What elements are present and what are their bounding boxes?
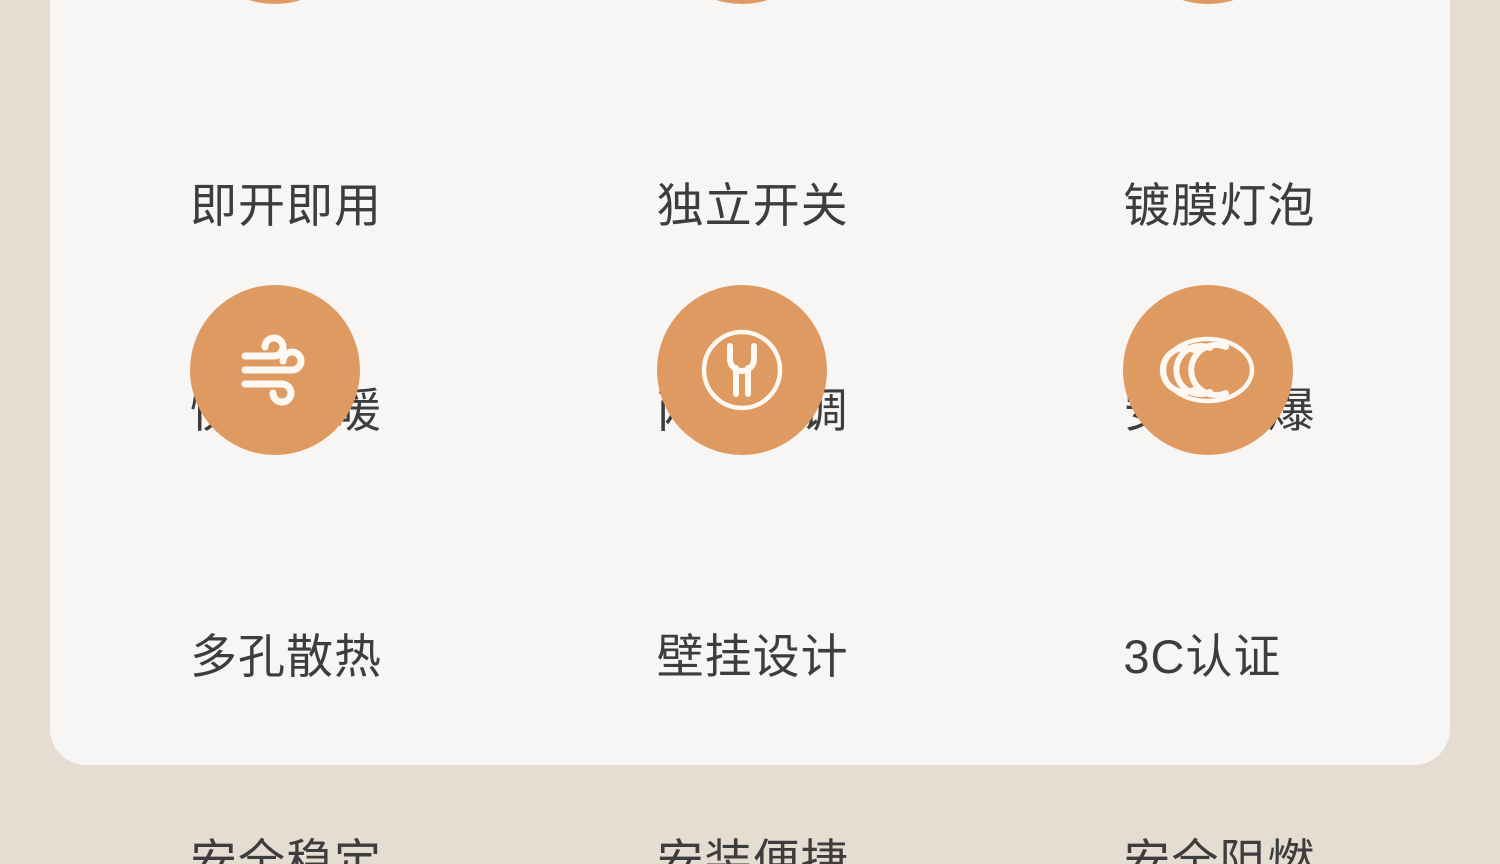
- light-bulb-icon: [1123, 0, 1293, 4]
- feature-row-bottom: 多孔散热 安全稳定 壁挂设计 安装便捷: [50, 285, 1450, 665]
- feature-label-line2: 安全阻燃: [1123, 828, 1315, 864]
- feature-label-line1: 3C认证: [1123, 623, 1315, 691]
- feature-label-line1: 独立开关: [657, 172, 849, 240]
- feature-item-wall-mount: 壁挂设计 安装便捷: [517, 285, 984, 864]
- wrench-icon: [657, 285, 827, 455]
- wind-airflow-icon: [190, 285, 360, 455]
- feature-item-ventilation: 多孔散热 安全稳定: [50, 285, 517, 864]
- feature-row-top: 即开即用 快速取暖 独立开关 两档可调: [50, 0, 1450, 214]
- feature-label-line2: 安装便捷: [657, 828, 849, 864]
- switch-icon: [657, 0, 827, 4]
- feature-label: 壁挂设计 安装便捷: [657, 487, 849, 864]
- power-on-icon: [190, 0, 360, 4]
- product-detail-page: 即开即用 快速取暖 独立开关 两档可调: [0, 0, 1500, 864]
- feature-label-line1: 即开即用: [190, 172, 382, 240]
- feature-label-line2: 安全稳定: [190, 828, 382, 864]
- feature-card: 即开即用 快速取暖 独立开关 两档可调: [50, 0, 1450, 765]
- feature-item-ccc-certification: 3C认证 安全阻燃: [983, 285, 1450, 864]
- feature-label: 3C认证 安全阻燃: [1123, 487, 1315, 864]
- ccc-certification-icon: [1123, 285, 1293, 455]
- feature-label: 多孔散热 安全稳定: [190, 487, 382, 864]
- feature-label-line1: 多孔散热: [190, 623, 382, 691]
- feature-label-line1: 镀膜灯泡: [1123, 172, 1315, 240]
- feature-label-line1: 壁挂设计: [657, 623, 849, 691]
